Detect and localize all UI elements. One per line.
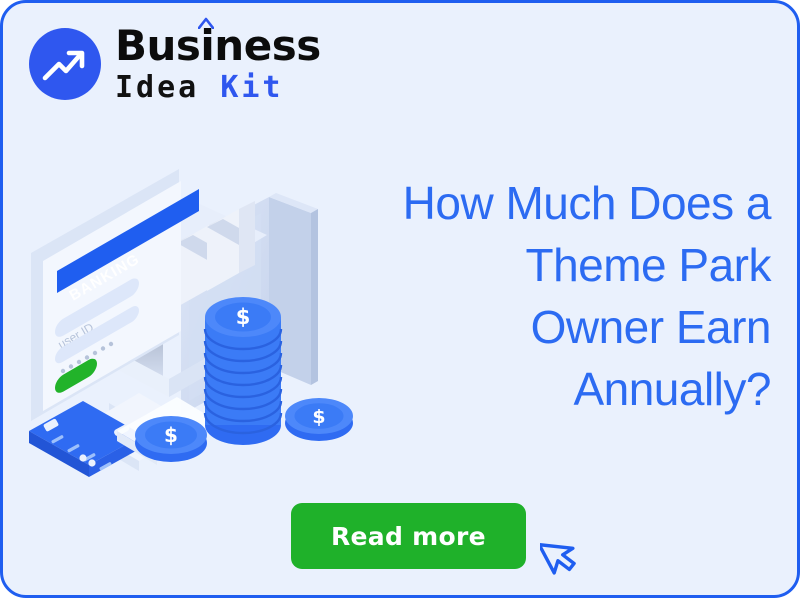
headline-line-1: How Much Does a [371,172,771,234]
coin-dollar-symbol: $ [236,305,251,329]
promo-banner: Business Idea Kit [0,0,800,598]
brand-name-line1: Business [115,25,321,67]
loose-coin-right: $ [285,398,353,441]
headline-line-3: Owner Earn [371,296,771,358]
page-title: How Much Does a Theme Park Owner Earn An… [371,172,771,420]
caret-accent-icon [198,17,214,29]
read-more-button[interactable]: Read more [291,503,526,569]
headline-line-4: Annually? [371,358,771,420]
brand-wordmark: Business Idea Kit [115,25,321,103]
coin-stack: $ [205,297,281,445]
svg-text:$: $ [312,406,325,428]
brand-name-text: Business [115,21,321,70]
mouse-pointer-icon [540,530,584,583]
brand-name-line2: Idea Kit [115,73,321,103]
brand-name-idea: Idea [115,70,199,105]
headline-line-2: Theme Park [371,234,771,296]
brand-logo: Business Idea Kit [29,25,321,103]
cta-area: Read more [291,503,584,569]
growth-arrow-icon [29,28,101,100]
isometric-banking-illustration: BANKING user ID [21,135,421,485]
loose-coin-left: $ [135,416,207,462]
svg-text:$: $ [164,423,178,447]
brand-name-kit: Kit [220,70,283,105]
